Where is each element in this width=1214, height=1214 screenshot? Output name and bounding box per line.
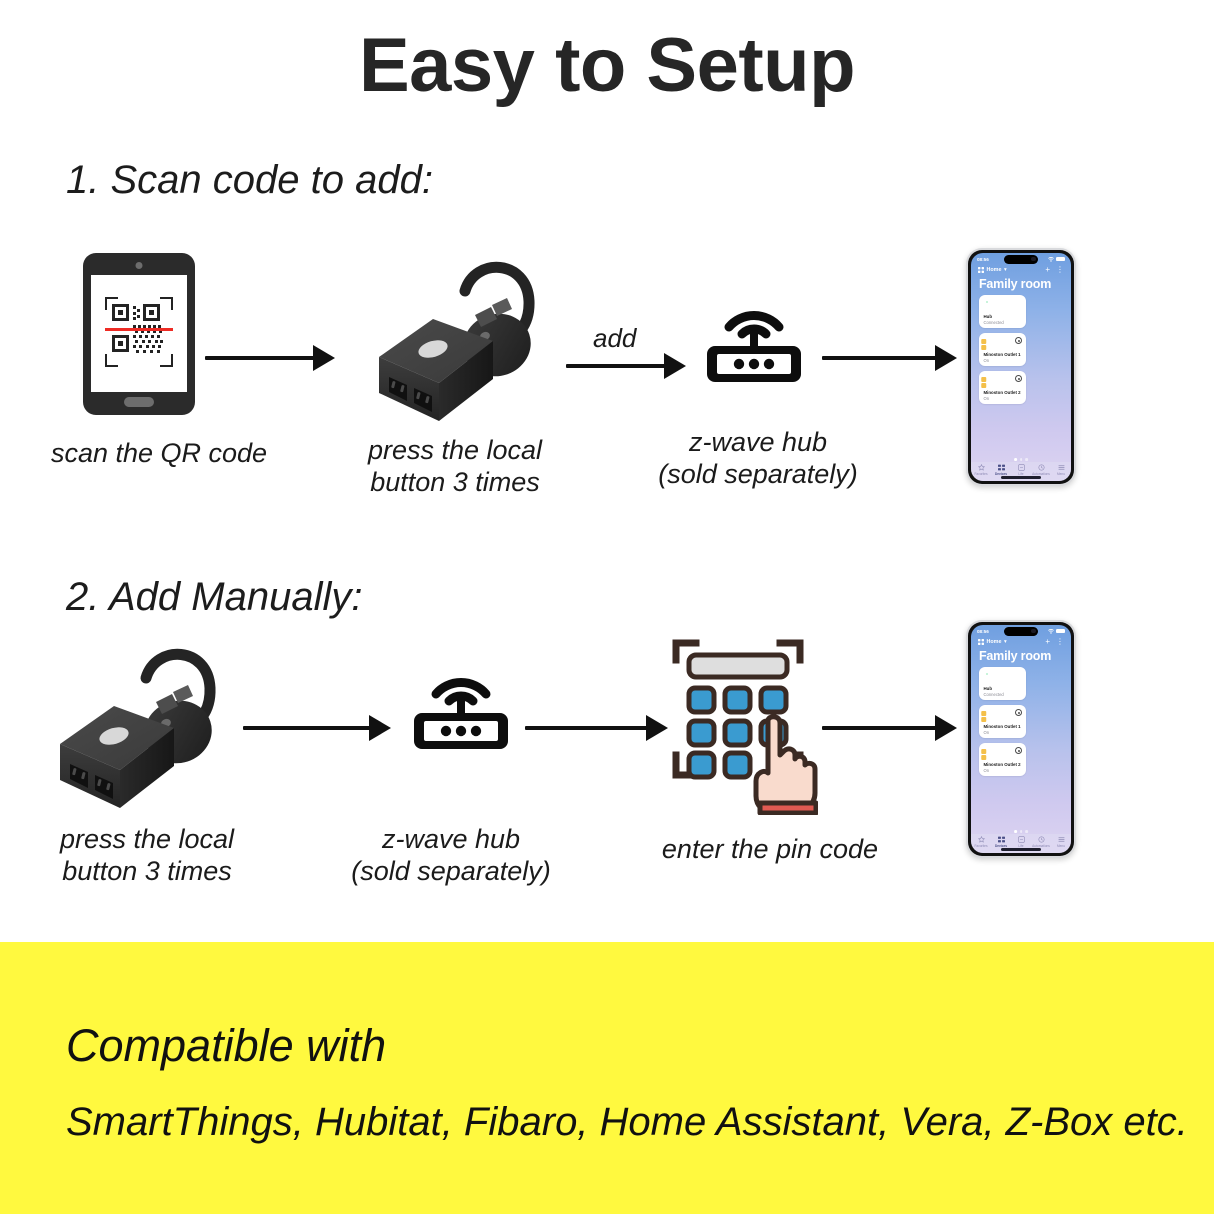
automations-icon (1038, 836, 1045, 843)
status-indicators (1048, 257, 1065, 262)
page-indicator-dots (1014, 830, 1028, 833)
home-indicator-bar (1001, 848, 1041, 850)
battery-icon (1056, 257, 1065, 262)
wifi-icon (1048, 629, 1054, 634)
device-state: On (984, 730, 990, 735)
caption-enter-pin: enter the pin code (620, 834, 920, 866)
arrow-1-1 (205, 345, 335, 371)
star-icon (978, 836, 985, 843)
device-card-hub[interactable]: Hub Connected (979, 667, 1026, 700)
gear-icon[interactable] (1015, 709, 1022, 716)
arrow-2-2 (525, 715, 670, 741)
phone-home-button (124, 397, 154, 407)
arrow-1-3 (822, 345, 957, 371)
home-grid-icon (978, 639, 984, 645)
qr-matrix-icon (112, 304, 166, 360)
status-indicators (1048, 629, 1065, 634)
app-top-bar: Home ▾ + ⋮ (971, 265, 1071, 274)
compatible-with-title: Compatible with (66, 1020, 386, 1072)
devices-grid-icon (998, 464, 1005, 471)
device-card-outlet-1[interactable]: Minoston Outlet 1 On (979, 333, 1026, 366)
step-2-heading: 2. Add Manually: (66, 575, 362, 620)
page-indicator-dots (1014, 458, 1028, 461)
life-icon (1018, 836, 1025, 843)
smart-outlet-graphic (38, 640, 228, 815)
tab-automations[interactable]: Automations (1032, 836, 1050, 848)
device-card-list: Hub Connected Minoston Outlet 1 On Minos… (971, 667, 1071, 776)
arrow-1-2 (566, 353, 686, 379)
app-top-bar: Home ▾ + ⋮ (971, 637, 1071, 646)
automations-icon (1038, 464, 1045, 471)
more-options-button[interactable]: ⋮ (1056, 266, 1064, 274)
qr-code-graphic (105, 297, 173, 367)
smartphone-app-screen-2: 08:56 Home ▾ (966, 620, 1076, 858)
caption-zwave-hub-2: z-wave hub (sold separately) (327, 824, 575, 888)
compatibility-band: Compatible with SmartThings, Hubitat, Fi… (0, 942, 1214, 1214)
device-name: Minoston Outlet 1 (984, 724, 1021, 729)
device-card-hub[interactable]: Hub Connected (979, 295, 1026, 328)
device-state: On (984, 768, 990, 773)
router-graphic (405, 655, 517, 753)
room-title: Family room (971, 646, 1071, 667)
arrow-2-1 (243, 715, 393, 741)
device-name: Hub (984, 686, 993, 691)
caption-press-button-2: press the local button 3 times (22, 824, 272, 888)
smartphone-app-screen-1: 08:56 Home ▾ (966, 248, 1076, 486)
dynamic-island (1004, 627, 1038, 636)
device-state: Connected (984, 320, 1004, 325)
keypad-graphic (668, 635, 818, 815)
page-title: Easy to Setup (0, 22, 1214, 109)
z-wave-hub-icon-1 (698, 288, 810, 391)
device-name: Hub (984, 314, 993, 319)
tab-favorites[interactable]: Favorites (972, 464, 990, 476)
devices-grid-icon (998, 836, 1005, 843)
pin-keypad-icon (668, 635, 818, 820)
home-indicator-bar (1001, 476, 1041, 478)
device-name: Minoston Outlet 2 (984, 390, 1021, 395)
tab-devices[interactable]: Devices (992, 464, 1010, 476)
device-card-outlet-1[interactable]: Minoston Outlet 1 On (979, 705, 1026, 738)
phone-speaker-dot (136, 262, 143, 269)
chevron-down-icon: ▾ (1004, 267, 1007, 273)
device-state: On (984, 358, 990, 363)
home-grid-icon (978, 267, 984, 273)
wifi-icon (1048, 257, 1054, 262)
smart-outlet-icon-1 (357, 253, 547, 433)
phone-screen (91, 275, 187, 392)
room-title: Family room (971, 274, 1071, 295)
arrow-label-add: add (593, 323, 636, 354)
add-device-button[interactable]: + (1045, 638, 1050, 646)
tab-devices[interactable]: Devices (992, 836, 1010, 848)
tab-life[interactable]: Life (1012, 836, 1030, 848)
step-1-heading: 1. Scan code to add: (66, 158, 433, 203)
gear-icon[interactable] (1015, 747, 1022, 754)
tab-favorites[interactable]: Favorites (972, 836, 990, 848)
tab-label: Menu (1057, 844, 1065, 848)
home-label: Home (987, 267, 1002, 273)
life-icon (1018, 464, 1025, 471)
phone-status-bar: 08:56 (971, 253, 1071, 265)
compatible-platforms-list: SmartThings, Hubitat, Fibaro, Home Assis… (66, 1100, 1188, 1145)
qr-phone-icon (83, 253, 195, 415)
tab-label: Favorites (974, 472, 987, 476)
tab-label: Favorites (974, 844, 987, 848)
home-label: Home (987, 639, 1002, 645)
smart-outlet-icon-2 (38, 640, 228, 820)
caption-press-button-1: press the local button 3 times (330, 435, 580, 499)
qr-scan-line (105, 328, 173, 331)
device-card-outlet-2[interactable]: Minoston Outlet 2 On (979, 371, 1026, 404)
device-state: Connected (984, 692, 1004, 697)
device-name: Minoston Outlet 1 (984, 352, 1021, 357)
battery-icon (1056, 629, 1065, 634)
tab-menu[interactable]: Menu (1052, 836, 1070, 848)
tab-automations[interactable]: Automations (1032, 464, 1050, 476)
caption-zwave-hub-1: z-wave hub (sold separately) (634, 427, 882, 491)
home-selector[interactable]: Home ▾ (978, 639, 1007, 645)
gear-icon[interactable] (1015, 375, 1022, 382)
gear-icon[interactable] (1015, 337, 1022, 344)
device-name: Minoston Outlet 2 (984, 762, 1021, 767)
tab-menu[interactable]: Menu (1052, 464, 1070, 476)
z-wave-hub-icon-2 (405, 655, 517, 758)
device-card-outlet-2[interactable]: Minoston Outlet 2 On (979, 743, 1026, 776)
caption-scan-qr: scan the QR code (24, 438, 294, 470)
chevron-down-icon: ▾ (1004, 639, 1007, 645)
tab-life[interactable]: Life (1012, 464, 1030, 476)
router-graphic (698, 288, 810, 386)
star-icon (978, 464, 985, 471)
infographic-page: Easy to Setup 1. Scan code to add: (0, 0, 1214, 1214)
tab-label: Menu (1057, 472, 1065, 476)
menu-icon (1058, 464, 1065, 471)
device-card-list: Hub Connected Minoston Outlet 1 On Minos… (971, 295, 1071, 404)
add-device-button[interactable]: + (1045, 266, 1050, 274)
status-time: 08:56 (977, 629, 989, 634)
home-selector[interactable]: Home ▾ (978, 267, 1007, 273)
dynamic-island (1004, 255, 1038, 264)
device-state: On (984, 396, 990, 401)
status-time: 08:56 (977, 257, 989, 262)
arrow-2-3 (822, 715, 957, 741)
more-options-button[interactable]: ⋮ (1056, 638, 1064, 646)
menu-icon (1058, 836, 1065, 843)
smart-outlet-graphic (357, 253, 547, 428)
phone-status-bar: 08:56 (971, 625, 1071, 637)
